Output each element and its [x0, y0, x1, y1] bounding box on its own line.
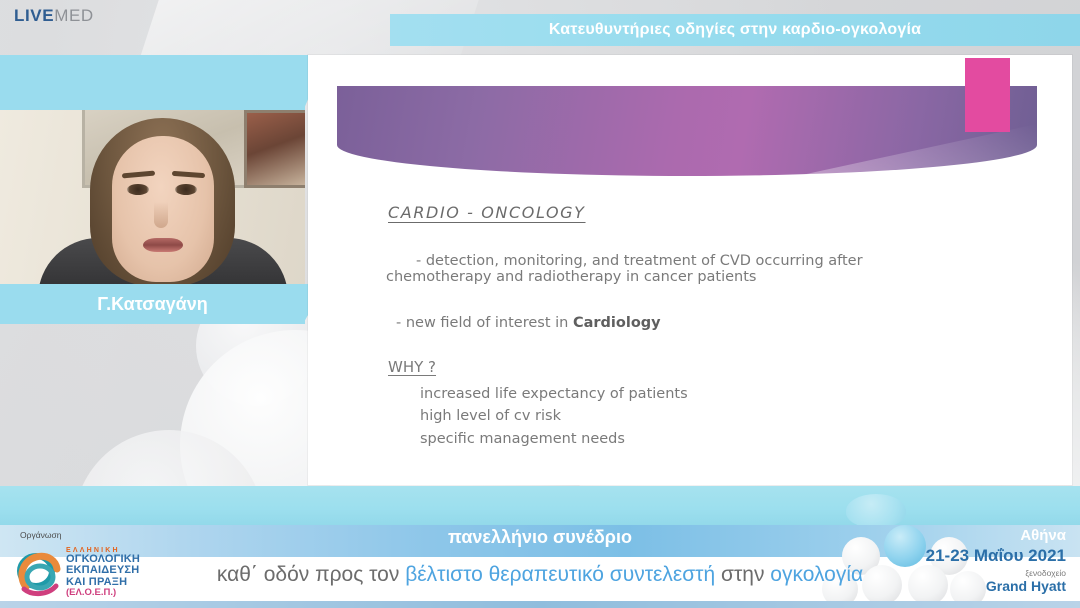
livemed-logo: LIVEMED: [14, 6, 94, 26]
venue-hotel-label: ξενοδοχείο: [926, 568, 1066, 578]
slide-title: CARDIO - ONCOLOGY: [388, 203, 586, 222]
background-sphere: [846, 494, 906, 528]
eloep-logo-icon: [16, 547, 66, 599]
slide-bullet-1-line-2: chemotherapy and radiotherapy in cancer …: [386, 269, 757, 285]
footer-bottom-rule: [0, 601, 1080, 608]
list-item: specific management needs: [420, 428, 688, 450]
venue-hotel-name: Grand Hyatt: [926, 578, 1066, 594]
page-title: Κατευθυντήριες οδηγίες στην καρδιο-ογκολ…: [549, 21, 921, 39]
livemed-logo-med: MED: [54, 6, 94, 25]
slide-bullet-2-emphasis: Cardiology: [573, 315, 661, 331]
slide-bullet-1: - detection, monitoring, and treatment o…: [386, 253, 986, 285]
screen: LIVEMED Κατευθυντήριες οδηγίες στην καρδ…: [0, 0, 1080, 608]
venue-dates: 21-23 Μαΐου 2021: [926, 546, 1066, 566]
tagline-part-1: καθ΄ οδόν προς τον: [217, 563, 405, 586]
slide-panel[interactable]: CARDIO - ONCOLOGY - detection, monitorin…: [308, 55, 1072, 485]
wall-picture: [244, 110, 305, 188]
slide-why-heading: WHY ?: [388, 358, 436, 376]
slide-accent-rectangle: [965, 58, 1010, 132]
conference-footer: Οργάνωση ΕΛΛΗΝΙΚΗ ΟΓΚΟΛΟΓΙΚΗ ΕΚΠΑΙΔΕΥΣΗ …: [0, 525, 1080, 608]
speaker-name-bar: Γ.Κατσαγάνη: [0, 284, 305, 324]
organizer-label: Οργάνωση: [20, 530, 61, 540]
org-line-5: (ΕΛ.Ο.Ε.Π.): [66, 588, 140, 598]
org-line-3: ΕΚΠΑΙΔΕΥΣΗ: [66, 565, 140, 576]
speaker-eye: [175, 184, 197, 195]
slide-bullet-2: - new field of interest in Cardiology: [396, 315, 661, 331]
slide-bullet-2-text: - new field of interest in: [396, 315, 573, 331]
slide-reason-list: increased life expectancy of patients hi…: [420, 383, 688, 450]
congress-label: πανελλήνιο συνέδριο: [0, 527, 1080, 548]
venue-city: Αθήνα: [926, 527, 1066, 544]
slide-bullet-1-line-1: - detection, monitoring, and treatment o…: [386, 253, 863, 269]
eloep-logo-text: ΕΛΛΗΝΙΚΗ ΟΓΚΟΛΟΓΙΚΗ ΕΚΠΑΙΔΕΥΣΗ ΚΑΙ ΠΡΑΞΗ…: [66, 547, 140, 597]
tagline-highlight-2: ογκολογία: [770, 563, 863, 586]
slide-header-graphic: [337, 86, 1037, 176]
teal-divider-strip: [0, 486, 1080, 525]
speaker-mouth: [143, 238, 183, 252]
list-item: high level of cv risk: [420, 405, 688, 427]
tagline-part-2: στην: [715, 563, 770, 586]
speaker-nose: [154, 202, 168, 228]
list-item: increased life expectancy of patients: [420, 383, 688, 405]
congress-tagline: καθ΄ οδόν προς τον βέλτιστο θεραπευτικό …: [0, 563, 1080, 587]
livemed-logo-live: LIVE: [14, 6, 54, 25]
venue-info: Αθήνα 21-23 Μαΐου 2021 ξενοδοχείο Grand …: [926, 527, 1066, 594]
speaker-name: Γ.Κατσαγάνη: [97, 294, 208, 315]
presentation-title-bar: Κατευθυντήριες οδηγίες στην καρδιο-ογκολ…: [390, 14, 1080, 46]
tagline-highlight-1: βέλτιστο θεραπευτικό συντελεστή: [405, 563, 715, 586]
webcam-top-band: [0, 55, 305, 111]
webcam-video[interactable]: [0, 110, 305, 284]
speaker-eye: [127, 184, 149, 195]
